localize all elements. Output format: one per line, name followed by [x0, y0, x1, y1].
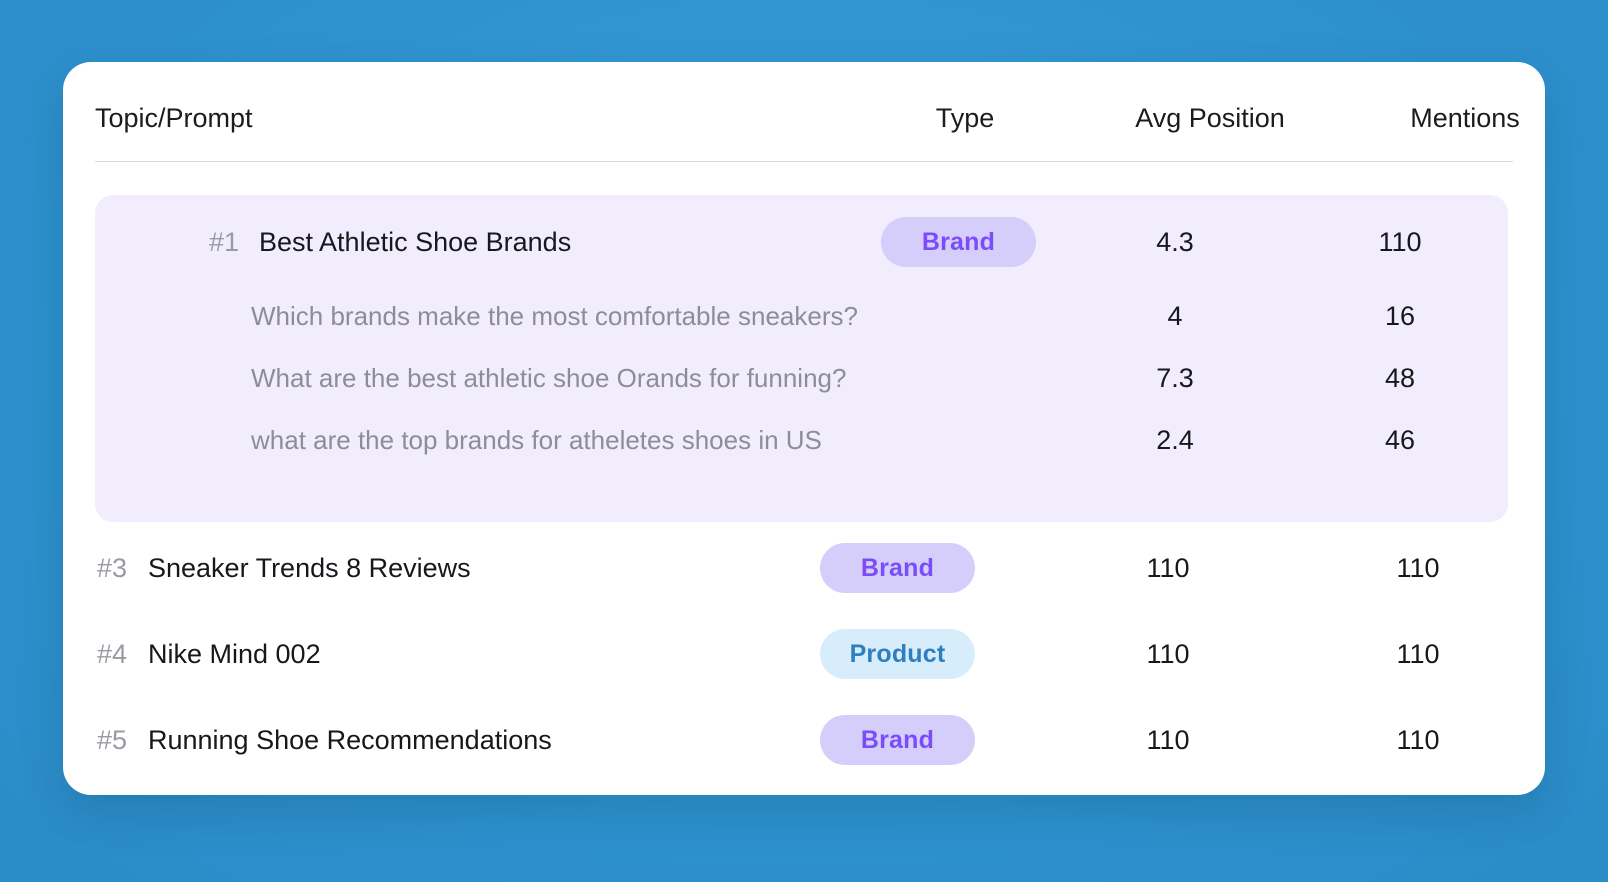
prompt-mentions: 48 — [1320, 347, 1480, 409]
row-mentions: 110 — [1338, 537, 1498, 599]
prompt-avg-position: 2.4 — [1095, 409, 1255, 471]
status-badge-product[interactable]: Product — [820, 629, 975, 679]
row-rank: #3 — [97, 537, 127, 599]
highlighted-topic-group[interactable]: #1 Best Athletic Shoe Brands Brand 4.3 1… — [95, 195, 1508, 522]
row-topic-title[interactable]: Sneaker Trends 8 Reviews — [148, 537, 471, 599]
prompt-avg-position: 7.3 — [1095, 347, 1255, 409]
row-avg-position: 110 — [1088, 537, 1248, 599]
row-mentions: 110 — [1320, 211, 1480, 273]
prompt-row[interactable]: what are the top brands for atheletes sh… — [95, 409, 1508, 471]
status-badge-brand[interactable]: Brand — [881, 217, 1036, 267]
column-header-mentions[interactable]: Mentions — [1340, 100, 1545, 136]
row-mentions: 110 — [1338, 623, 1498, 685]
row-topic-title[interactable]: Running Shoe Recommendations — [148, 709, 552, 771]
column-header-type[interactable]: Type — [885, 100, 1045, 136]
table-row[interactable]: #5 Running Shoe Recommendations Brand 11… — [63, 709, 1545, 771]
row-mentions: 110 — [1338, 709, 1498, 771]
row-rank: #4 — [97, 623, 127, 685]
page-background: Topic/Prompt Type Avg Position Mentions … — [0, 0, 1608, 882]
table-row[interactable]: #3 Sneaker Trends 8 Reviews Brand 110 11… — [63, 537, 1545, 599]
prompt-avg-position: 4 — [1095, 285, 1255, 347]
table-row[interactable]: #1 Best Athletic Shoe Brands Brand 4.3 1… — [95, 211, 1508, 273]
row-topic-title[interactable]: Nike Mind 002 — [148, 623, 321, 685]
prompt-mentions: 46 — [1320, 409, 1480, 471]
prompt-text[interactable]: what are the top brands for atheletes sh… — [251, 409, 822, 471]
row-rank: #1 — [209, 211, 239, 273]
row-rank: #5 — [97, 709, 127, 771]
status-badge-brand[interactable]: Brand — [820, 715, 975, 765]
status-badge-brand[interactable]: Brand — [820, 543, 975, 593]
prompt-text[interactable]: What are the best athletic shoe Orands f… — [251, 347, 846, 409]
prompt-row[interactable]: What are the best athletic shoe Orands f… — [95, 347, 1508, 409]
prompt-text[interactable]: Which brands make the most comfortable s… — [251, 285, 858, 347]
prompt-mentions: 16 — [1320, 285, 1480, 347]
table-header: Topic/Prompt Type Avg Position Mentions — [95, 100, 1513, 162]
column-header-avg-position[interactable]: Avg Position — [1075, 100, 1345, 136]
row-topic-title[interactable]: Best Athletic Shoe Brands — [259, 211, 571, 273]
row-avg-position: 110 — [1088, 709, 1248, 771]
prompt-row[interactable]: Which brands make the most comfortable s… — [95, 285, 1508, 347]
row-avg-position: 4.3 — [1095, 211, 1255, 273]
results-card: Topic/Prompt Type Avg Position Mentions … — [63, 62, 1545, 795]
column-header-topic-prompt[interactable]: Topic/Prompt — [95, 100, 253, 136]
row-avg-position: 110 — [1088, 623, 1248, 685]
table-row[interactable]: #4 Nike Mind 002 Product 110 110 — [63, 623, 1545, 685]
